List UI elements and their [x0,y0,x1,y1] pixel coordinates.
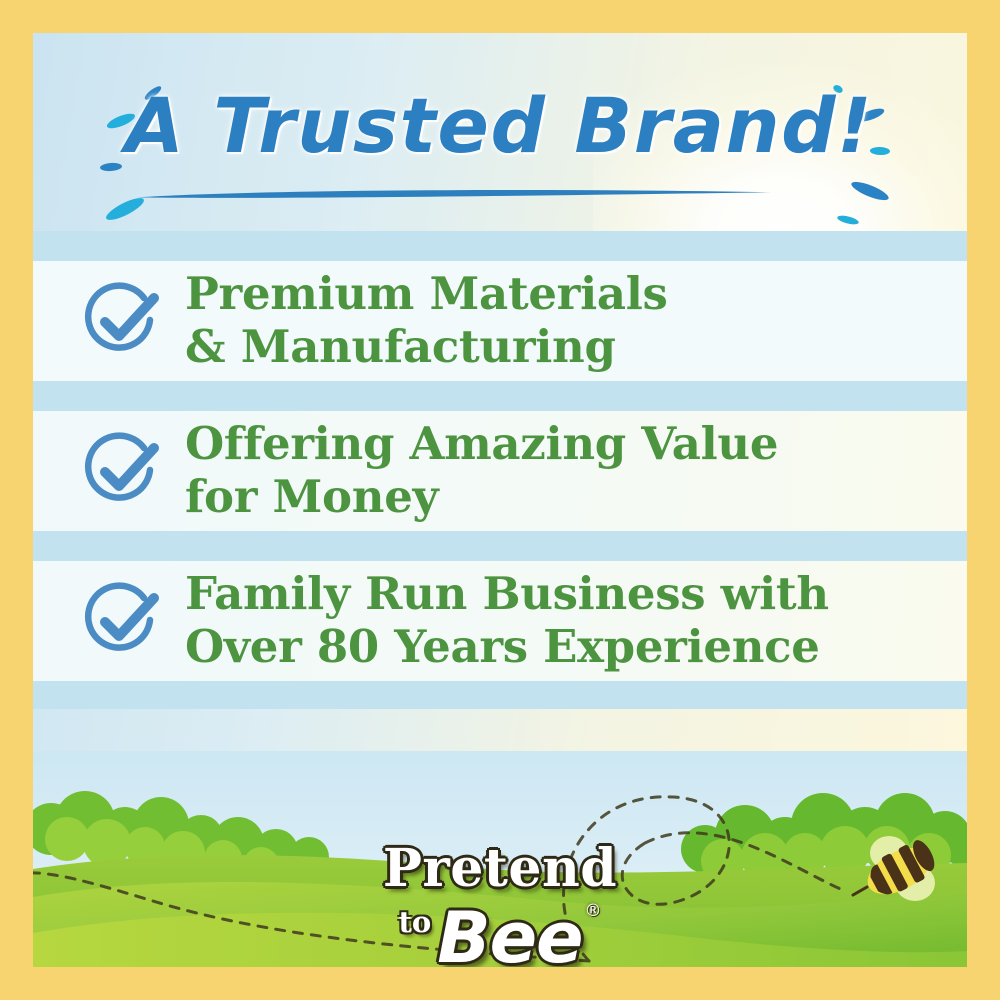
landscape-illustration [33,751,967,967]
feature-row-2: Offering Amazing Value for Money [33,411,967,531]
feature-line-1a: Premium Materials [185,267,668,320]
band-separator [33,381,967,411]
feature-line-2b: for Money [185,471,778,524]
feature-line-3b: Over 80 Years Experience [185,621,829,674]
feature-text-1: Premium Materials & Manufacturing [171,268,668,373]
band-separator [33,531,967,561]
headline-section: A Trusted Brand! [33,33,967,231]
landscape-scene: Pretend toBee® [33,751,967,967]
feature-text-2: Offering Amazing Value for Money [171,418,778,523]
band-separator [33,231,967,261]
feature-line-2a: Offering Amazing Value [185,417,778,470]
check-circle-icon [75,426,171,516]
feature-row-3: Family Run Business with Over 80 Years E… [33,561,967,681]
feature-line-1b: & Manufacturing [185,321,668,374]
poster-inner: A Trusted Brand! Premium Materials & Man… [33,33,967,967]
feature-list: Premium Materials & Manufacturing Offeri… [33,231,967,751]
feature-text-3: Family Run Business with Over 80 Years E… [171,568,829,673]
feature-row-1: Premium Materials & Manufacturing [33,261,967,381]
feature-line-3a: Family Run Business with [185,567,829,620]
poster-root: A Trusted Brand! Premium Materials & Man… [0,0,1000,1000]
headline-underline [135,188,775,200]
page-title: A Trusted Brand! [125,81,873,170]
check-circle-icon [75,576,171,666]
band-separator [33,681,967,709]
check-circle-icon [75,276,171,366]
